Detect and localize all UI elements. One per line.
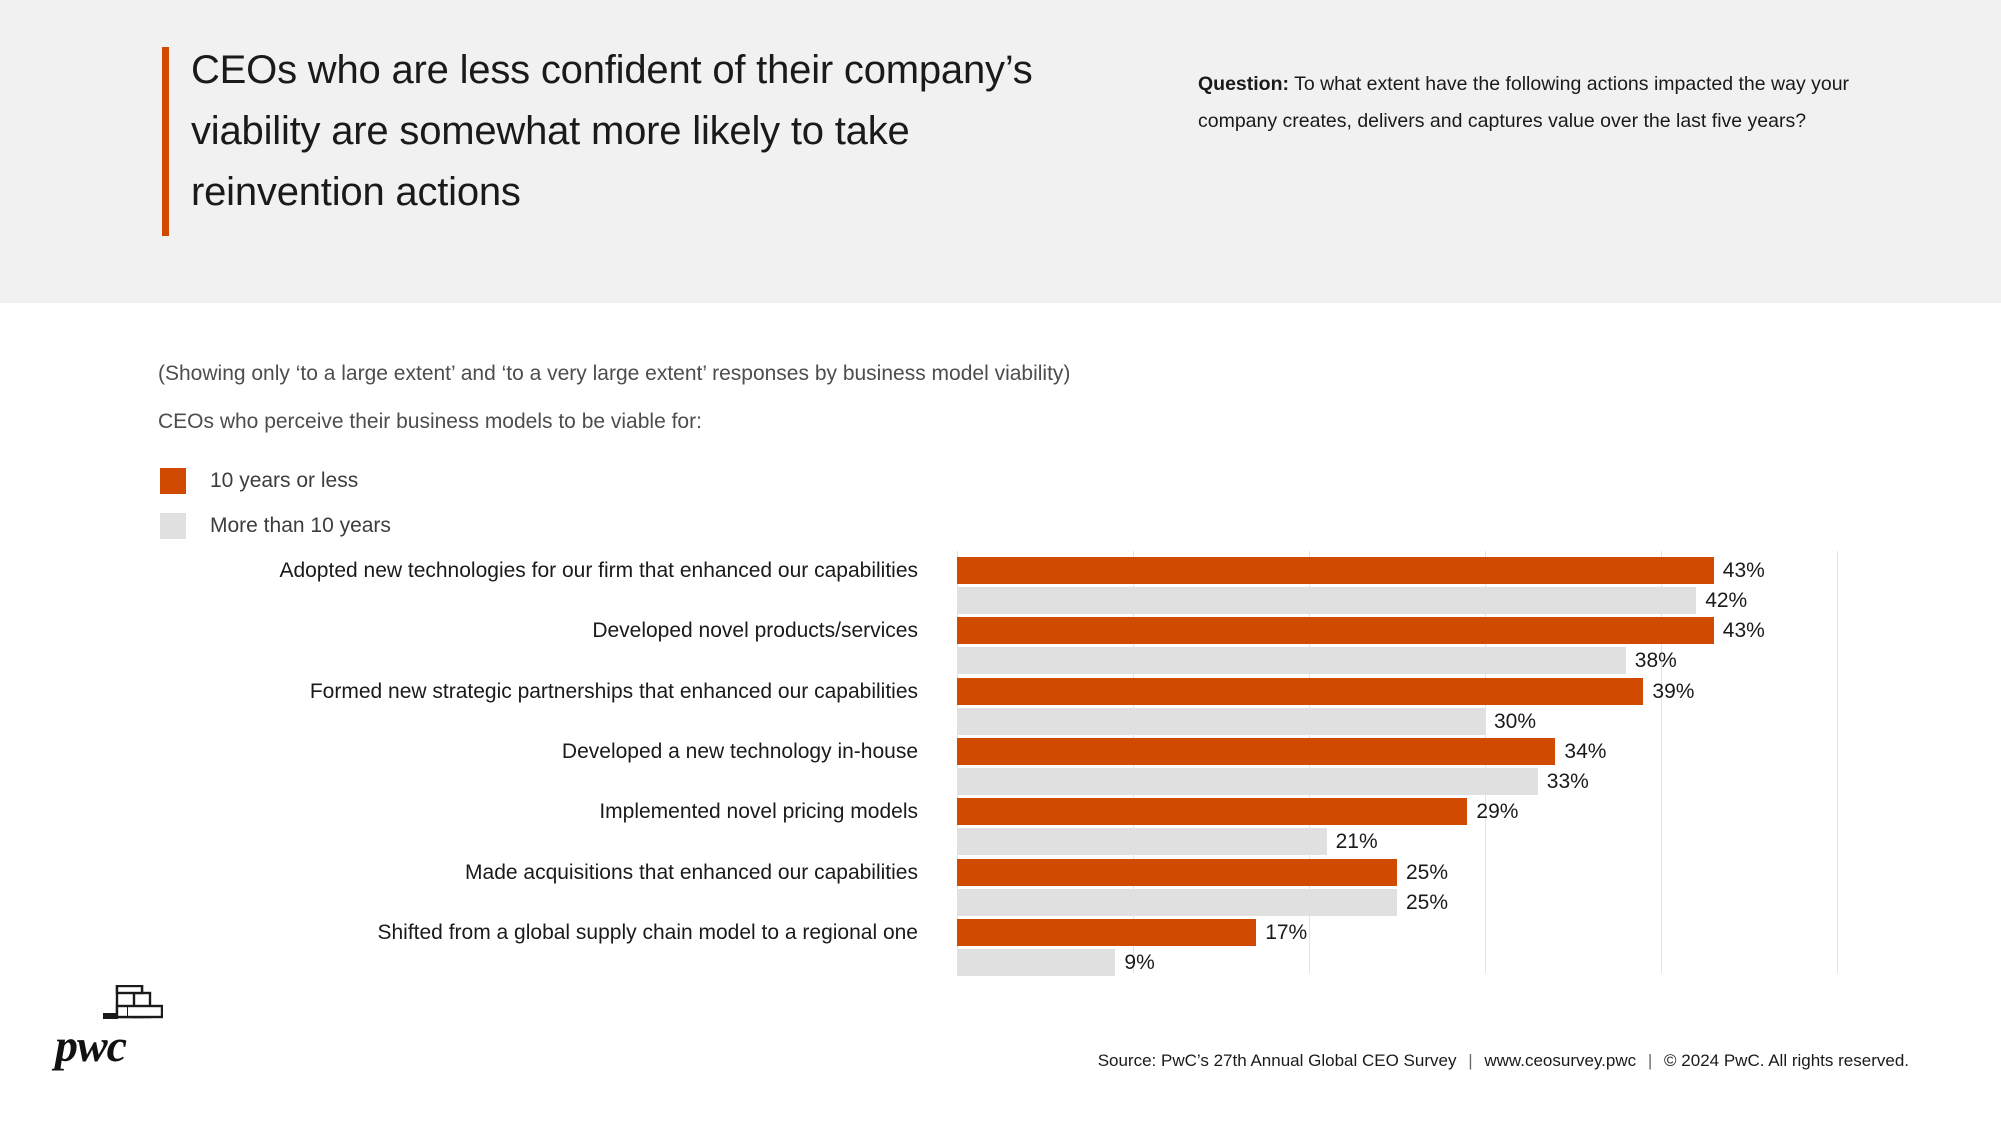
category-label: Developed a new technology in-house [562,740,918,764]
bar-secondary[interactable] [957,768,1538,795]
gridline [1661,551,1662,973]
footer-source: Source: PwC’s 27th Annual Global CEO Sur… [1098,1051,1909,1071]
bar-value-label: 25% [1406,891,1448,915]
bar-primary[interactable] [957,557,1714,584]
category-axis-labels: Adopted new technologies for our firm th… [120,551,940,973]
footer-url[interactable]: www.ceosurvey.pwc [1484,1051,1636,1070]
bar-value-label: 30% [1494,710,1536,734]
bar-primary[interactable] [957,798,1467,825]
bar-secondary[interactable] [957,647,1626,674]
bar-value-label: 43% [1723,559,1765,583]
bar-value-label: 25% [1406,861,1448,885]
category-label: Adopted new technologies for our firm th… [279,559,918,583]
category-label: Developed novel products/services [592,619,918,643]
bar-primary[interactable] [957,617,1714,644]
bar-value-label: 17% [1265,921,1307,945]
category-label: Implemented novel pricing models [599,800,918,824]
bar-value-label: 34% [1564,740,1606,764]
bar-value-label: 42% [1705,589,1747,613]
category-label: Made acquisitions that enhanced our capa… [465,861,918,885]
bar-value-label: 43% [1723,619,1765,643]
footer-source-text: Source: PwC’s 27th Annual Global CEO Sur… [1098,1051,1457,1070]
bar-secondary[interactable] [957,708,1485,735]
bar-value-label: 39% [1652,680,1694,704]
bar-secondary[interactable] [957,587,1696,614]
bar-primary[interactable] [957,738,1555,765]
bar-primary[interactable] [957,919,1256,946]
footer-separator: | [1461,1051,1479,1070]
bar-secondary[interactable] [957,949,1115,976]
gridline [1837,551,1838,973]
bar-secondary[interactable] [957,889,1397,916]
bar-primary[interactable] [957,678,1643,705]
bar-value-label: 9% [1124,951,1154,975]
bar-secondary[interactable] [957,828,1327,855]
category-label: Shifted from a global supply chain model… [377,921,918,945]
bar-chart: Adopted new technologies for our firm th… [0,0,2001,1125]
slide-root: CEOs who are less confident of their com… [0,0,2001,1125]
pwc-logo: pwc [55,985,175,1060]
footer-separator: | [1641,1051,1659,1070]
bar-value-label: 21% [1336,830,1378,854]
plot-area: 43%42%43%38%39%30%34%33%29%21%25%25%17%9… [957,551,1837,973]
bar-primary[interactable] [957,859,1397,886]
category-label: Formed new strategic partnerships that e… [310,680,918,704]
bar-value-label: 33% [1547,770,1589,794]
bar-value-label: 38% [1635,649,1677,673]
bar-value-label: 29% [1476,800,1518,824]
footer-copyright: © 2024 PwC. All rights reserved. [1664,1051,1909,1070]
pwc-wordmark: pwc [55,1019,126,1072]
